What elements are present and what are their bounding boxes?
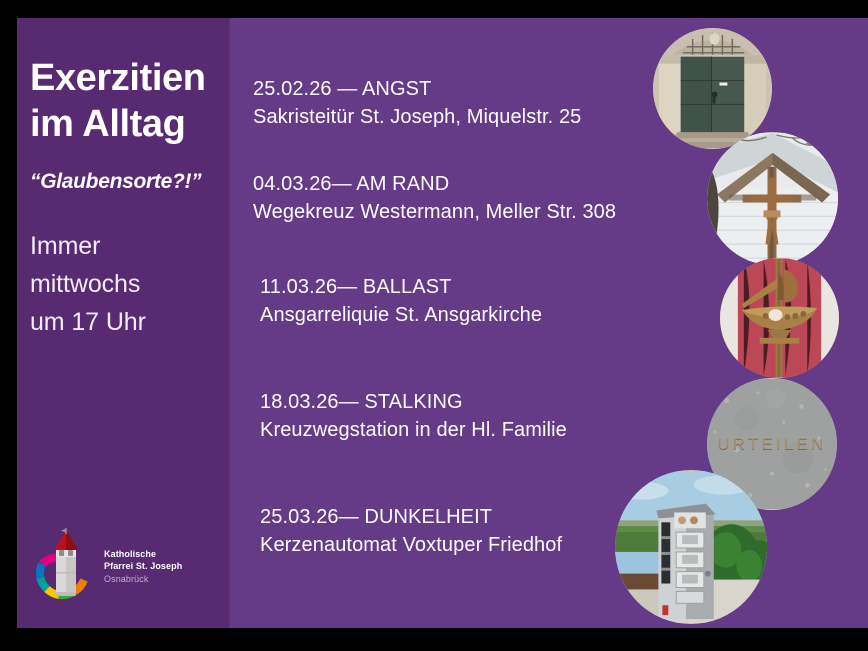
list-item: 25.02.26 — ANGST Sakristeitür St. Joseph… [253, 78, 693, 129]
page-subtitle: “Glaubensorte?!” [30, 170, 235, 194]
list-item: 11.03.26— BALLAST Ansgarreliquie St. Ans… [260, 276, 700, 327]
wayside-crucifix-photo [707, 132, 838, 265]
parish-logo-mark-icon [32, 528, 98, 602]
event-title: 18.03.26— STALKING [260, 391, 700, 414]
event-place: Sakristeitür St. Joseph, Miquelstr. 25 [253, 106, 693, 129]
list-item: 04.03.26— AM RAND Wegekreuz Westermann, … [253, 173, 693, 224]
parish-logo: Katholische Pfarrei St. Joseph Osnabrück [32, 526, 222, 604]
poster-canvas: Exerzitien im Alltag “Glaubensorte?!” Im… [17, 18, 868, 628]
svg-text:URTEILEN: URTEILEN [717, 434, 826, 453]
page-title: Exerzitien im Alltag [30, 55, 230, 148]
logo-city: Osnabrück [104, 573, 219, 587]
ansgar-reliquary-ship-photo [720, 258, 839, 378]
event-title: 04.03.26— AM RAND [253, 173, 693, 196]
logo-line-2: Pfarrei St. Joseph [104, 560, 219, 572]
schedule-text: Immer mittwochs um 17 Uhr [30, 227, 225, 341]
candle-vending-machine-photo [615, 470, 767, 624]
schedule-line-1: Immer [30, 227, 225, 265]
event-title: 11.03.26— BALLAST [260, 276, 700, 299]
list-item: 18.03.26— STALKING Kreuzwegstation in de… [260, 391, 700, 442]
schedule-line-2: mittwochs [30, 265, 225, 303]
logo-line-1: Katholische [104, 548, 219, 560]
schedule-line-3: um 17 Uhr [30, 303, 225, 341]
event-place: Wegekreuz Westermann, Meller Str. 308 [253, 201, 693, 224]
event-place: Kreuzwegstation in der Hl. Familie [260, 419, 700, 442]
event-place: Ansgarreliquie St. Ansgarkirche [260, 304, 700, 327]
title-line-2: im Alltag [30, 101, 230, 147]
event-title: 25.02.26 — ANGST [253, 78, 693, 101]
church-bronze-door-photo [653, 28, 772, 149]
title-line-1: Exerzitien [30, 55, 230, 101]
parish-logo-text: Katholische Pfarrei St. Joseph Osnabrück [104, 548, 219, 586]
